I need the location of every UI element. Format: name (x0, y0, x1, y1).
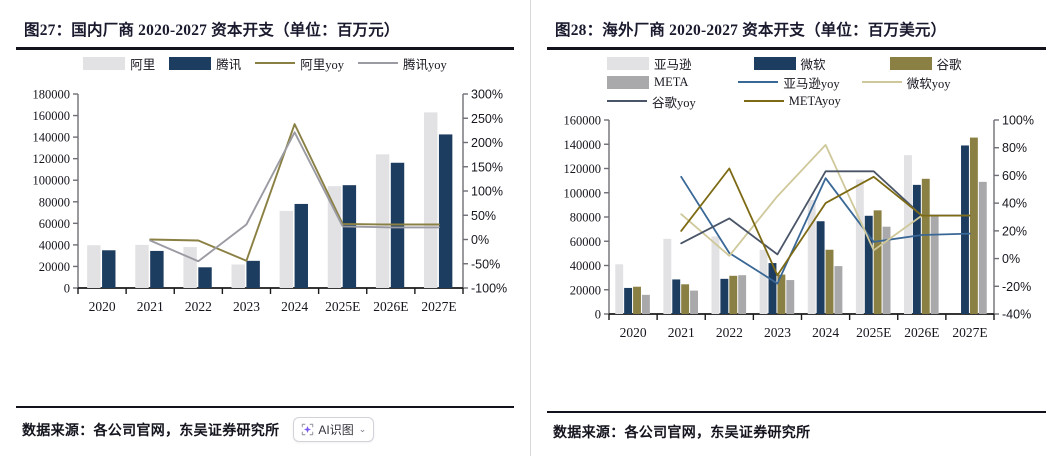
svg-text:-50%: -50% (471, 257, 500, 271)
svg-text:180000: 180000 (33, 87, 71, 101)
svg-text:2020: 2020 (89, 299, 116, 314)
svg-text:2026E: 2026E (904, 325, 939, 340)
svg-text:2020: 2020 (620, 325, 647, 340)
svg-text:-40%: -40% (1002, 307, 1031, 321)
svg-text:300%: 300% (471, 87, 503, 101)
svg-text:80000: 80000 (39, 195, 70, 209)
chart-28-svg: 0200004000060000800001000001200001400001… (547, 50, 1046, 350)
footer-27: 数据来源：各公司官网，东吴证券研究所 AI识图 ⌄ (16, 406, 514, 443)
chart-27: 阿里 腾讯 阿里yoy 腾讯yoy (16, 50, 514, 350)
svg-text:60000: 60000 (570, 234, 601, 248)
svg-text:80000: 80000 (570, 210, 601, 224)
svg-text:-100%: -100% (471, 281, 507, 295)
svg-text:0: 0 (64, 281, 70, 295)
svg-text:40%: 40% (1002, 196, 1027, 210)
svg-text:200%: 200% (471, 136, 503, 150)
svg-text:120000: 120000 (564, 162, 602, 176)
svg-text:2025E: 2025E (325, 299, 360, 314)
svg-text:100000: 100000 (33, 173, 71, 187)
svg-text:120000: 120000 (33, 152, 71, 166)
figures-page: 图27：国内厂商 2020-2027 资本开支（单位：百万元） 阿里 腾讯 阿里… (0, 0, 1062, 456)
svg-text:2022: 2022 (185, 299, 212, 314)
ai-sparkle-icon (301, 423, 314, 436)
ai-badge-label: AI识图 (318, 421, 353, 438)
svg-text:150%: 150% (471, 160, 503, 174)
ai-recognize-badge[interactable]: AI识图 ⌄ (293, 417, 374, 442)
svg-text:2023: 2023 (233, 299, 260, 314)
figure-panel-28: 图28：海外厂商 2020-2027 资本开支（单位：百万美元） 亚马逊 微软 … (531, 0, 1062, 456)
data-source-text-28: 数据来源：各公司官网，东吴证券研究所 (553, 422, 810, 442)
figure-panel-27: 图27：国内厂商 2020-2027 资本开支（单位：百万元） 阿里 腾讯 阿里… (0, 0, 531, 456)
svg-text:0%: 0% (1002, 252, 1020, 266)
chevron-down-icon[interactable]: ⌄ (359, 424, 367, 435)
plot-area-28: 0200004000060000800001000001200001400001… (547, 50, 1046, 350)
svg-text:2023: 2023 (764, 325, 791, 340)
svg-text:160000: 160000 (33, 109, 71, 123)
svg-text:2027E: 2027E (421, 299, 456, 314)
svg-text:2024: 2024 (281, 299, 308, 314)
svg-text:40000: 40000 (570, 259, 601, 273)
chart-27-svg: 0200004000060000800001000001200001400001… (16, 50, 515, 350)
svg-text:140000: 140000 (564, 137, 602, 151)
svg-text:20000: 20000 (570, 283, 601, 297)
footer-28: 数据来源：各公司官网，东吴证券研究所 (547, 411, 1046, 443)
svg-text:2027E: 2027E (952, 325, 987, 340)
svg-text:160000: 160000 (564, 113, 602, 127)
svg-text:60000: 60000 (39, 216, 70, 230)
svg-text:2026E: 2026E (373, 299, 408, 314)
svg-text:40000: 40000 (39, 238, 70, 252)
svg-text:20%: 20% (1002, 224, 1027, 238)
svg-text:2022: 2022 (716, 325, 743, 340)
svg-text:-20%: -20% (1002, 279, 1031, 293)
svg-text:2024: 2024 (812, 325, 839, 340)
svg-text:2021: 2021 (137, 299, 164, 314)
svg-text:0%: 0% (471, 233, 489, 247)
svg-text:100000: 100000 (564, 186, 602, 200)
chart-28: 亚马逊 微软 谷歌 META (547, 50, 1046, 350)
page-title-27: 图27：国内厂商 2020-2027 资本开支（单位：百万元） (16, 0, 514, 47)
plot-area-27: 0200004000060000800001000001200001400001… (16, 50, 514, 350)
svg-text:100%: 100% (471, 184, 503, 198)
page-title-28: 图28：海外厂商 2020-2027 资本开支（单位：百万美元） (547, 0, 1046, 47)
svg-text:0: 0 (595, 307, 601, 321)
svg-text:250%: 250% (471, 111, 503, 125)
svg-text:100%: 100% (1002, 113, 1034, 127)
svg-text:140000: 140000 (33, 130, 71, 144)
svg-text:20000: 20000 (39, 259, 70, 273)
data-source-text-27: 数据来源：各公司官网，东吴证券研究所 (22, 420, 279, 440)
svg-text:2021: 2021 (668, 325, 695, 340)
svg-text:50%: 50% (471, 208, 496, 222)
svg-text:80%: 80% (1002, 141, 1027, 155)
svg-text:60%: 60% (1002, 168, 1027, 182)
svg-text:2025E: 2025E (856, 325, 891, 340)
